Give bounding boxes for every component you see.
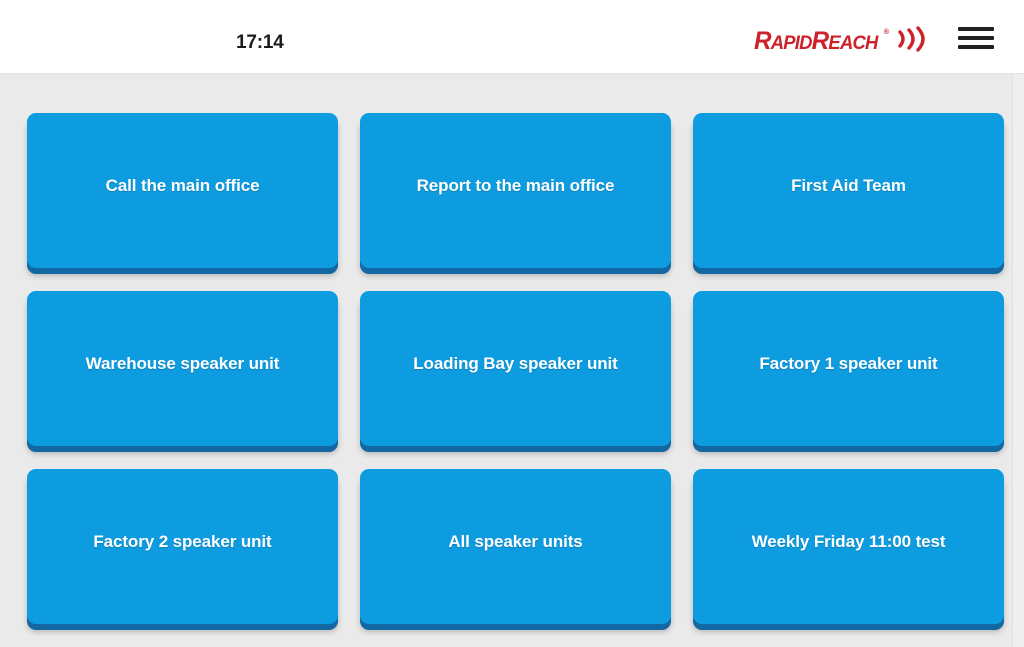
action-tile[interactable]: Weekly Friday 11:00 test: [693, 469, 1004, 624]
menu-bar-bottom: [958, 45, 994, 49]
action-tile[interactable]: Call the main office: [27, 113, 338, 268]
vertical-scrollbar[interactable]: [1012, 74, 1024, 647]
brand-letter-r2: R: [812, 27, 829, 55]
content-area: Call the main officeReport to the main o…: [0, 74, 1024, 647]
brand-text-apid: APID: [771, 33, 812, 54]
menu-bar-top: [958, 27, 994, 31]
action-tile[interactable]: Factory 1 speaker unit: [693, 291, 1004, 446]
action-tile-label: Report to the main office: [360, 175, 671, 196]
signal-waves-icon: [894, 25, 928, 58]
brand-letter-r1: R: [754, 27, 771, 55]
app-header: 17:14 RAPIDREACH ®: [0, 0, 1024, 74]
rapidreach-app: 17:14 RAPIDREACH ® Call the main o: [0, 0, 1024, 647]
action-tile-label: Loading Bay speaker unit: [360, 353, 671, 374]
action-tile[interactable]: Warehouse speaker unit: [27, 291, 338, 446]
action-tile[interactable]: All speaker units: [360, 469, 671, 624]
brand-wordmark: RAPIDREACH: [754, 29, 878, 54]
trademark-symbol: ®: [884, 29, 889, 36]
brand-logo: RAPIDREACH ®: [754, 25, 928, 57]
action-tile-grid: Call the main officeReport to the main o…: [27, 113, 998, 624]
action-tile-label: Warehouse speaker unit: [27, 353, 338, 374]
action-tile[interactable]: Report to the main office: [360, 113, 671, 268]
action-tile[interactable]: First Aid Team: [693, 113, 1004, 268]
action-tile[interactable]: Factory 2 speaker unit: [27, 469, 338, 624]
action-tile[interactable]: Loading Bay speaker unit: [360, 291, 671, 446]
action-tile-label: Weekly Friday 11:00 test: [693, 531, 1004, 552]
action-tile-label: Factory 2 speaker unit: [27, 531, 338, 552]
action-tile-label: First Aid Team: [693, 175, 1004, 196]
menu-bar-middle: [958, 36, 994, 40]
hamburger-menu-icon[interactable]: [958, 24, 994, 52]
action-tile-label: Call the main office: [27, 175, 338, 196]
clock-time: 17:14: [236, 33, 284, 52]
brand-text-each: EACH: [829, 33, 878, 54]
action-tile-label: All speaker units: [360, 531, 671, 552]
action-tile-label: Factory 1 speaker unit: [693, 353, 1004, 374]
